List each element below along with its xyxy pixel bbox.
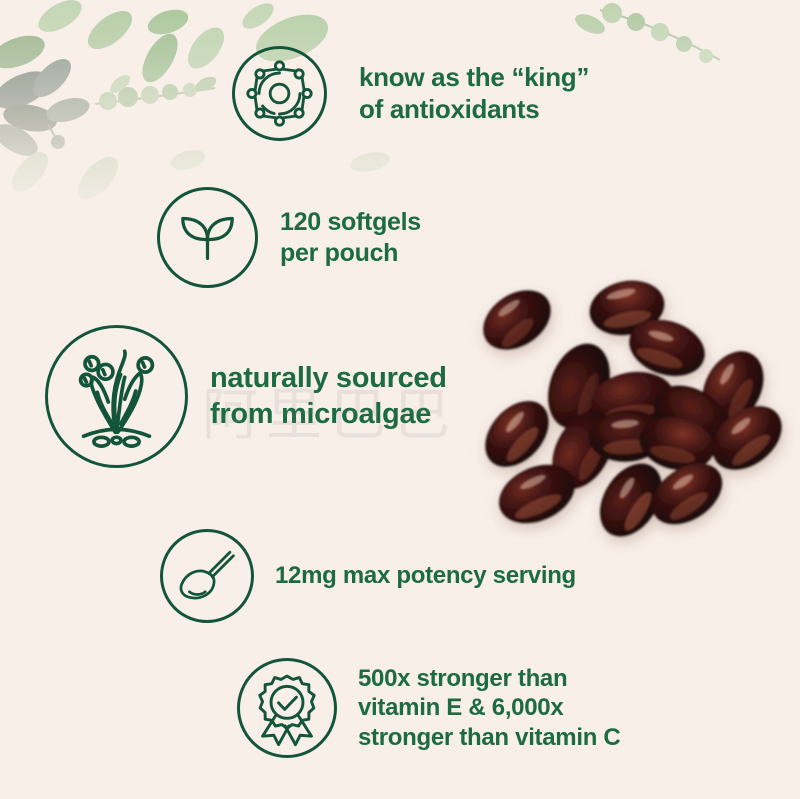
sprout-leaves-icon xyxy=(160,190,255,285)
feature-softgels: 120 softgels per pouch xyxy=(157,187,421,288)
softgels-icon-circle xyxy=(157,187,258,288)
microalgae-icon-circle xyxy=(45,325,188,468)
seaweed-algae-icon xyxy=(48,328,185,465)
feature-microalgae-label: naturally sourced from microalgae xyxy=(210,361,447,432)
feature-microalgae: naturally sourced from microalgae xyxy=(45,325,447,468)
strength-icon-circle xyxy=(237,658,337,758)
feature-strength: 500x stronger than vitamin E & 6,000x st… xyxy=(237,658,620,758)
infographic-canvas: know as the “king” of antioxidants 120 s… xyxy=(0,0,800,799)
award-ribbon-icon xyxy=(240,661,334,755)
spoon-icon xyxy=(163,532,251,620)
feature-strength-label: 500x stronger than vitamin E & 6,000x st… xyxy=(358,664,620,752)
feature-antioxidant-label: know as the “king” of antioxidants xyxy=(359,62,589,125)
astaxanthin-softgel-capsules xyxy=(455,268,800,563)
feature-potency-label: 12mg max potency serving xyxy=(275,561,576,590)
feature-softgels-label: 120 softgels per pouch xyxy=(280,207,421,268)
potency-icon-circle xyxy=(160,529,254,623)
antioxidant-molecule-icon xyxy=(235,49,324,138)
antioxidant-icon-circle xyxy=(232,46,327,141)
feature-antioxidant: know as the “king” of antioxidants xyxy=(232,46,589,141)
